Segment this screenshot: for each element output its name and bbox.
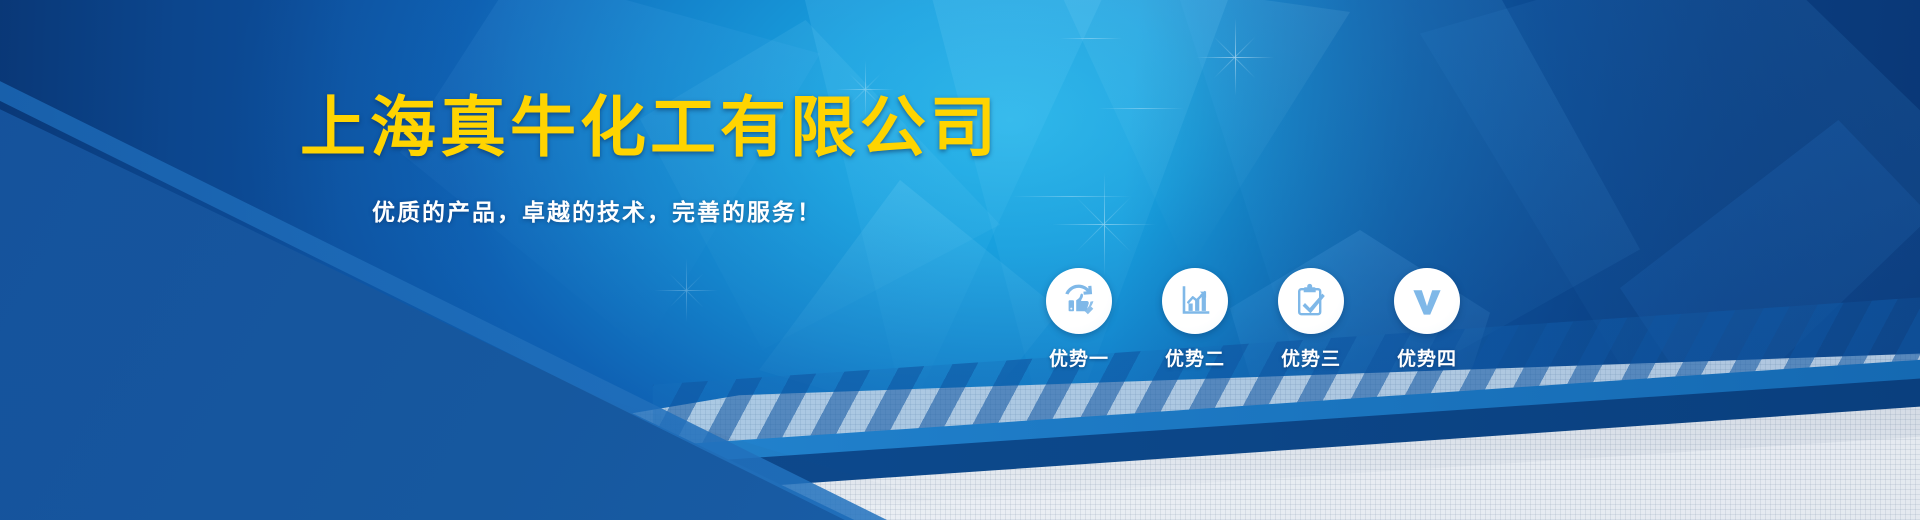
advantage-item-4[interactable]: 优势四 [1373, 268, 1481, 372]
tech-line-3 [1012, 196, 1132, 197]
company-hero-banner: 上海真牛化工有限公司 优质的产品，卓越的技术，完善的服务！ 优势一 [0, 0, 1920, 520]
advantage-icon-circle-4 [1394, 268, 1460, 334]
advantage-label-2: 优势二 [1165, 348, 1225, 372]
company-slogan: 优质的产品，卓越的技术，完善的服务！ [372, 196, 822, 228]
advantage-label-4: 优势四 [1397, 348, 1457, 372]
advantage-item-3[interactable]: 优势三 [1257, 268, 1365, 372]
tech-line-2 [1098, 108, 1184, 109]
tech-line-1 [1060, 38, 1122, 39]
clipboard-check-icon [1291, 281, 1331, 321]
advantage-icon-circle-2 [1162, 268, 1228, 334]
advantage-icon-circle-1 [1046, 268, 1112, 334]
refresh-thumbs-up-icon [1059, 281, 1099, 321]
advantage-item-1[interactable]: 优势一 [1025, 268, 1133, 372]
company-title: 上海真牛化工有限公司 [300, 88, 1000, 166]
advantage-icon-circle-3 [1278, 268, 1344, 334]
bar-chart-growth-icon [1175, 281, 1215, 321]
advantage-label-1: 优势一 [1049, 348, 1109, 372]
banner-left-shade [0, 0, 1920, 520]
advantages-list: 优势一 优势二 [1025, 268, 1481, 372]
advantage-item-2[interactable]: 优势二 [1141, 268, 1249, 372]
v-checkmark-icon [1407, 281, 1447, 321]
advantage-label-3: 优势三 [1281, 348, 1341, 372]
